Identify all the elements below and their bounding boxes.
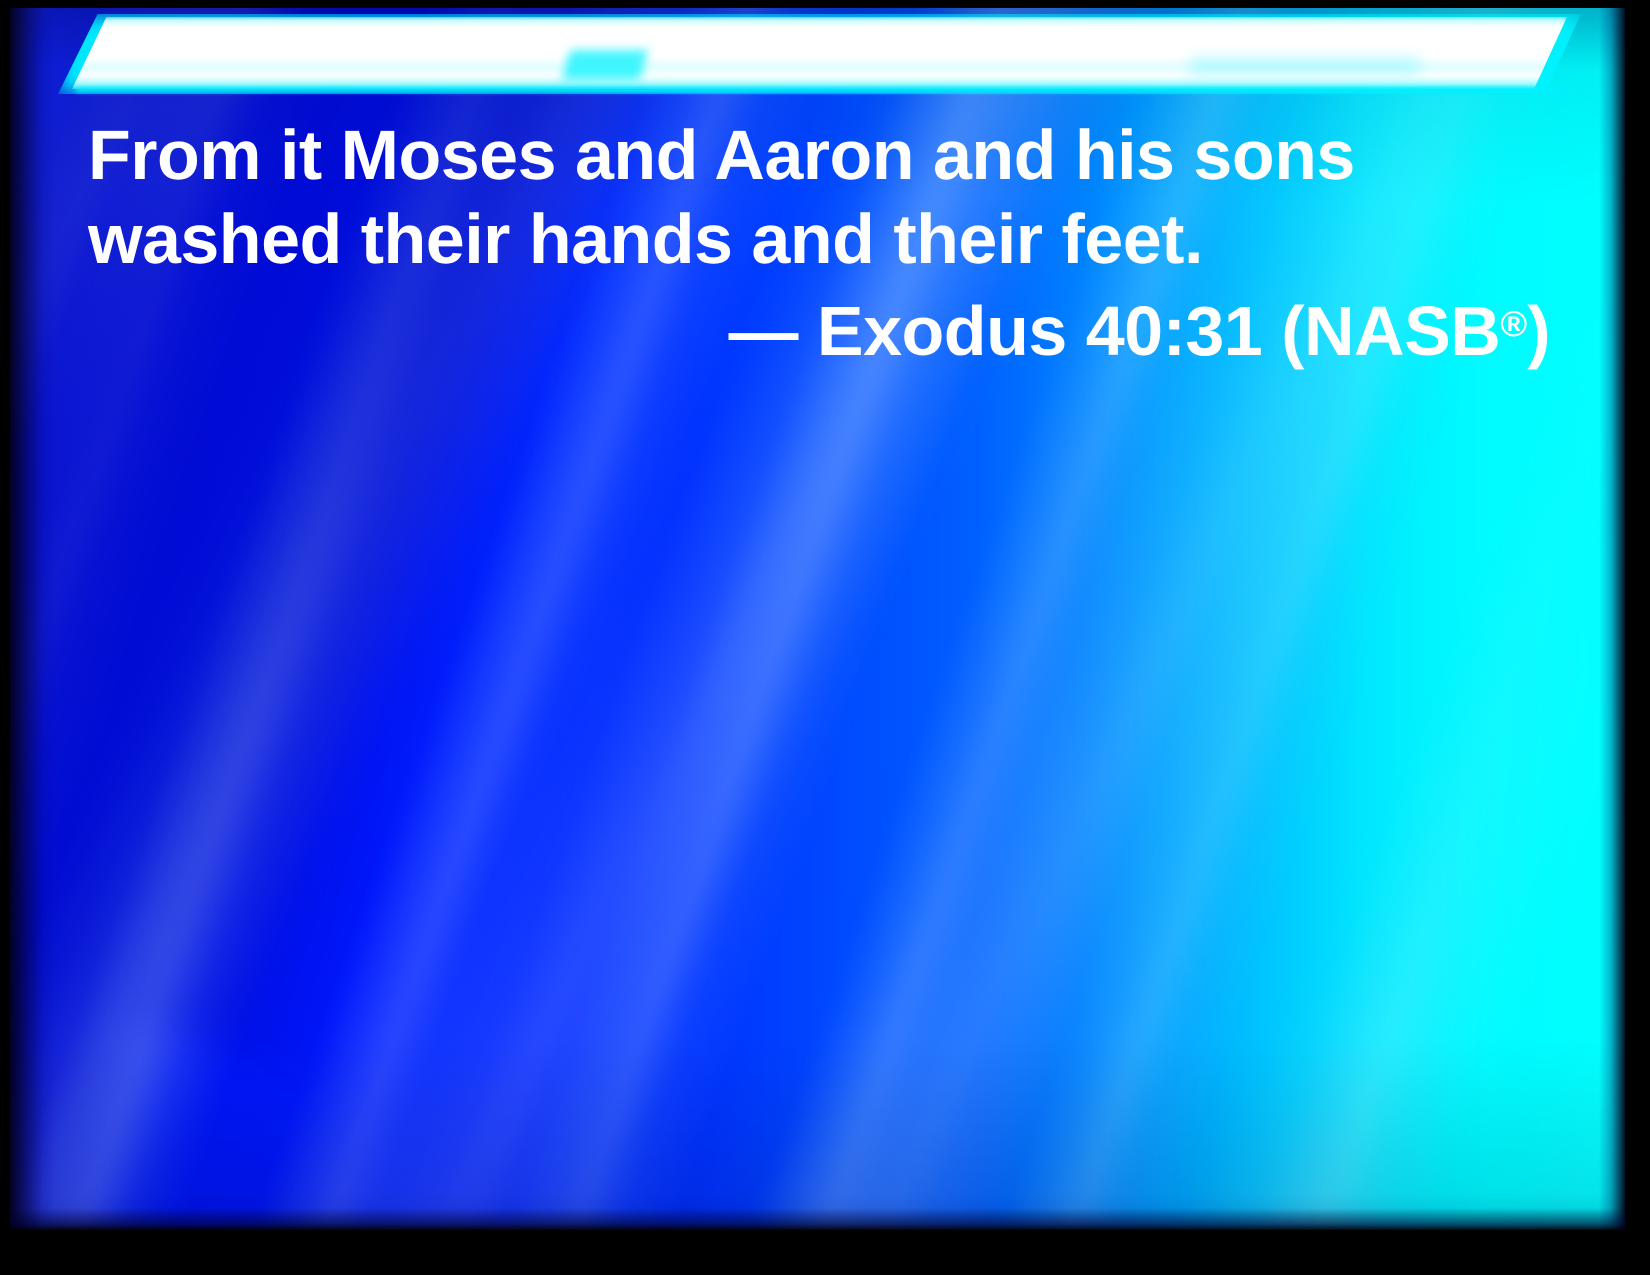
top-banner-core: [72, 17, 1567, 89]
background-vertical-shade: [10, 8, 1625, 1230]
top-banner-smudge-right: [1190, 58, 1420, 74]
background-bottom-vignette: [10, 1208, 1625, 1230]
top-banner-underline: [76, 87, 1563, 92]
top-banner-smudge: [563, 50, 648, 80]
background-left-vignette: [10, 8, 56, 1230]
verse-slide: From it Moses and Aaron and his sons was…: [0, 0, 1650, 1275]
background-right-vignette: [1599, 8, 1625, 1230]
slide-artboard: From it Moses and Aaron and his sons was…: [10, 8, 1625, 1230]
top-banner: [10, 8, 1625, 100]
